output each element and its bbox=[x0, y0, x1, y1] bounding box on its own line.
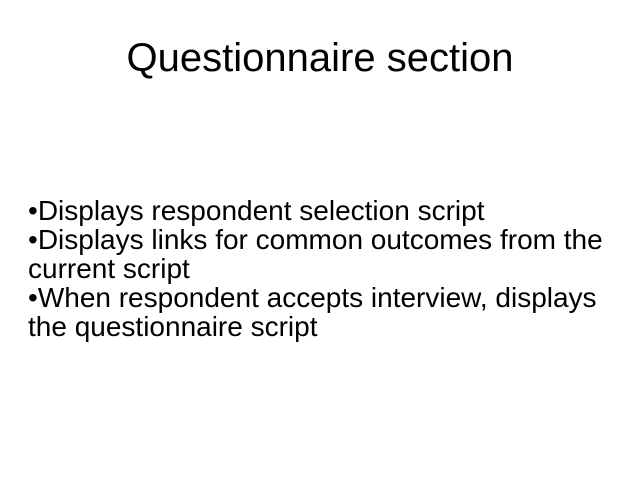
slide-canvas: Questionnaire section •Displays responde… bbox=[0, 0, 640, 480]
list-item: •When respondent accepts interview, disp… bbox=[28, 283, 612, 341]
list-item-text: When respondent accepts interview, displ… bbox=[28, 282, 597, 342]
bullet-list: •Displays respondent selection script •D… bbox=[28, 196, 612, 341]
list-item-text: Displays respondent selection script bbox=[38, 195, 485, 226]
list-item-text: Displays links for common outcomes from … bbox=[28, 224, 603, 284]
list-item: •Displays links for common outcomes from… bbox=[28, 225, 612, 283]
list-item: •Displays respondent selection script bbox=[28, 196, 612, 225]
bullet-point-icon: • bbox=[28, 282, 38, 313]
page-title: Questionnaire section bbox=[0, 36, 640, 80]
bullet-point-icon: • bbox=[28, 195, 38, 226]
bullet-point-icon: • bbox=[28, 224, 38, 255]
